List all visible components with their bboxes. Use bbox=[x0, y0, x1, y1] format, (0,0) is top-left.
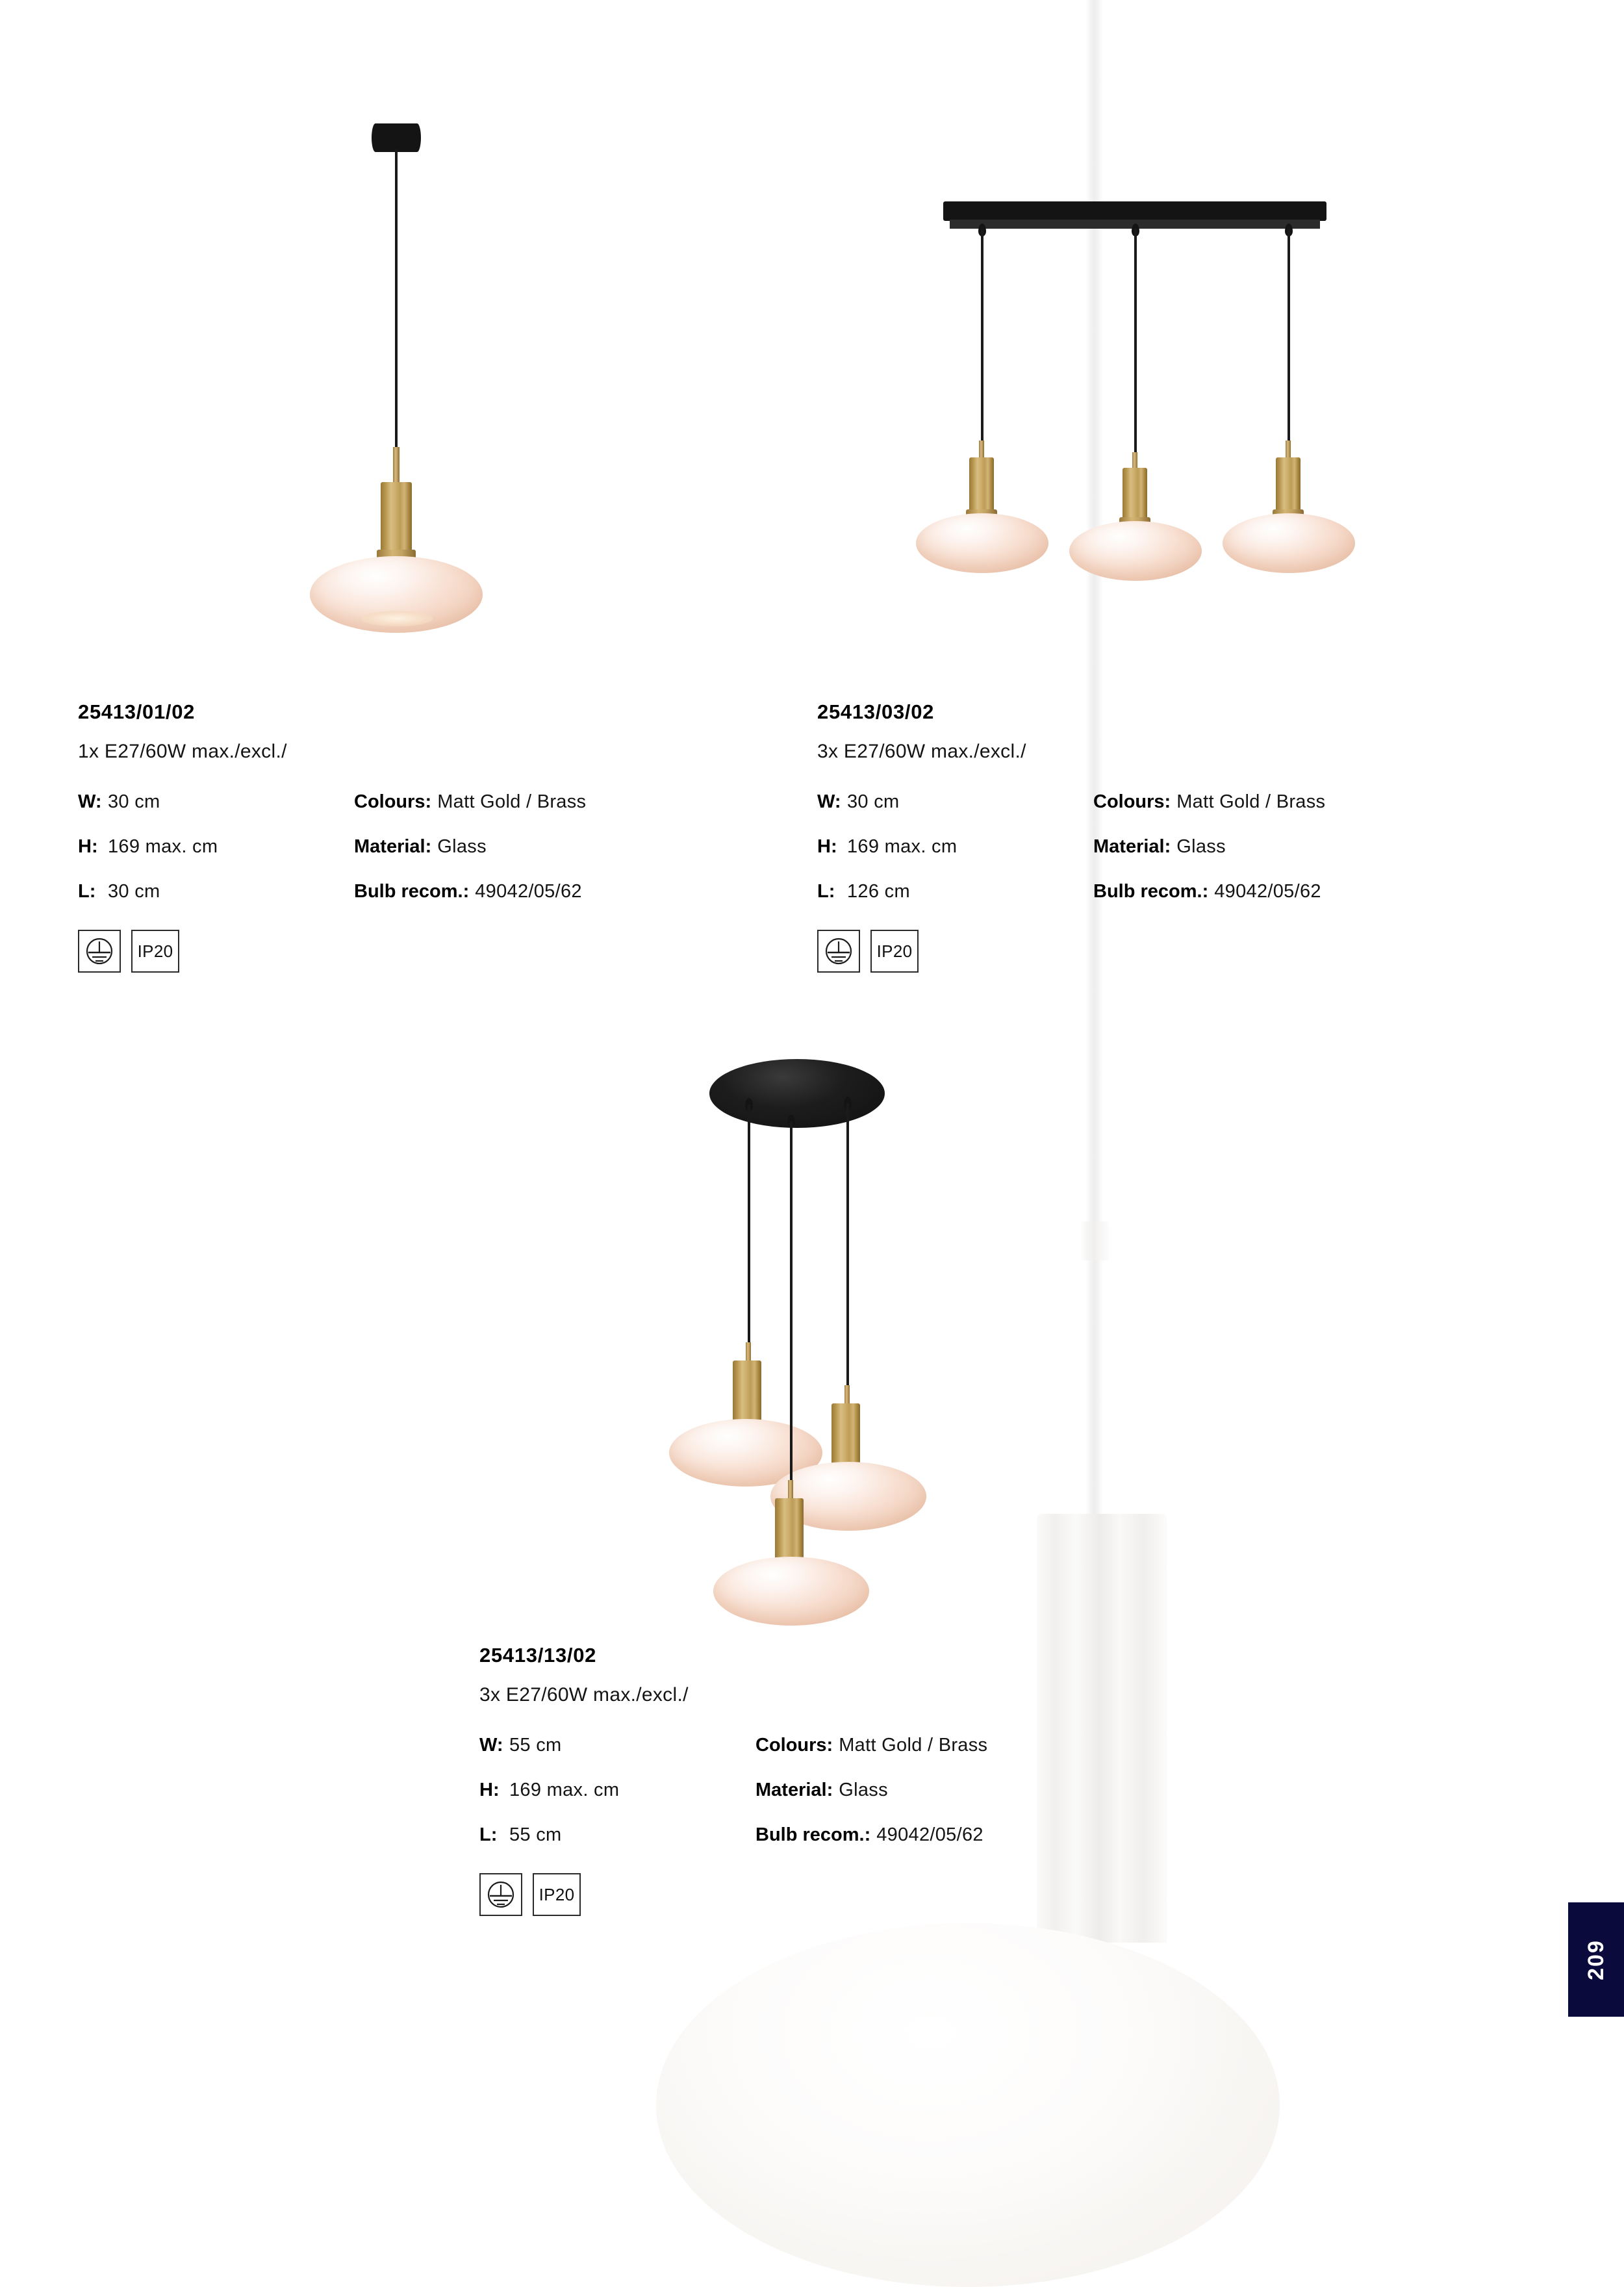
dimensions-column: W: 30 cm H: 169 max. cm L: 126 cm bbox=[817, 791, 1093, 902]
ip-rating-label: IP20 bbox=[877, 941, 913, 962]
background-floor-lamp-globe bbox=[656, 1923, 1280, 2287]
height-label: H: bbox=[479, 1780, 509, 1801]
pendant-cord bbox=[790, 1121, 793, 1483]
product-spec-block: 25413/13/02 3x E27/60W max./excl./ W: 55… bbox=[479, 1644, 987, 1916]
pendant-cord bbox=[395, 149, 398, 448]
page-number-tab: 209 bbox=[1568, 1902, 1624, 2017]
width-label: W: bbox=[479, 1735, 509, 1756]
info-column: Colours: Matt Gold / Brass Material: Gla… bbox=[354, 791, 586, 902]
colours-value: Matt Gold / Brass bbox=[1176, 791, 1325, 813]
ceiling-canopy bbox=[372, 123, 421, 152]
ip-rating-label: IP20 bbox=[138, 941, 173, 962]
material-value: Glass bbox=[437, 836, 487, 858]
colours-label: Colours: bbox=[354, 791, 431, 813]
glass-shade bbox=[916, 513, 1048, 573]
bulb-value: 49042/05/62 bbox=[1214, 881, 1321, 902]
pendant-cord bbox=[748, 1105, 750, 1345]
class-1-earth-icon bbox=[817, 930, 860, 973]
colours-value: Matt Gold / Brass bbox=[839, 1735, 987, 1756]
ip20-icon: IP20 bbox=[131, 930, 179, 973]
brass-socket bbox=[969, 457, 994, 512]
colours-label: Colours: bbox=[1093, 791, 1171, 813]
width-label: W: bbox=[817, 791, 847, 813]
product-code: 25413/01/02 bbox=[78, 700, 586, 724]
brass-socket bbox=[775, 1498, 804, 1561]
spec-row-length: L: 30 cm bbox=[78, 881, 354, 902]
dimensions-column: W: 55 cm H: 169 max. cm L: 55 cm bbox=[479, 1735, 755, 1846]
spec-row-width: W: 30 cm bbox=[817, 791, 1093, 813]
bar-canopy bbox=[943, 201, 1326, 221]
glass-shade bbox=[1223, 513, 1355, 573]
brass-socket bbox=[831, 1403, 860, 1466]
ip-rating-label: IP20 bbox=[539, 1885, 575, 1905]
colours-value: Matt Gold / Brass bbox=[437, 791, 586, 813]
background-floor-lamp-body bbox=[1037, 1514, 1167, 1943]
height-value: 169 max. cm bbox=[108, 836, 218, 858]
product-code: 25413/13/02 bbox=[479, 1644, 987, 1667]
width-label: W: bbox=[78, 791, 108, 813]
product-spec-block: 25413/01/02 1x E27/60W max./excl./ W: 30… bbox=[78, 700, 586, 973]
spec-row-length: L: 126 cm bbox=[817, 881, 1093, 902]
bulb-spec-line: 3x E27/60W max./excl./ bbox=[479, 1684, 987, 1706]
spec-row-width: W: 30 cm bbox=[78, 791, 354, 813]
height-label: H: bbox=[78, 836, 108, 858]
spec-row-bulb: Bulb recom.: 49042/05/62 bbox=[755, 1824, 987, 1846]
spec-row-bulb: Bulb recom.: 49042/05/62 bbox=[1093, 881, 1325, 902]
background-floor-lamp-collar bbox=[1081, 1221, 1110, 1260]
dimensions-column: W: 30 cm H: 169 max. cm L: 30 cm bbox=[78, 791, 354, 902]
spec-row-material: Material: Glass bbox=[354, 836, 586, 858]
bulb-label: Bulb recom.: bbox=[1093, 881, 1208, 902]
spec-row-height: H: 169 max. cm bbox=[479, 1780, 755, 1801]
brass-socket bbox=[1276, 457, 1300, 512]
spec-row-colours: Colours: Matt Gold / Brass bbox=[1093, 791, 1325, 813]
page-number: 209 bbox=[1583, 1939, 1608, 1980]
brass-socket bbox=[1123, 468, 1147, 520]
info-column: Colours: Matt Gold / Brass Material: Gla… bbox=[755, 1735, 987, 1846]
product-spec-block: 25413/03/02 3x E27/60W max./excl./ W: 30… bbox=[817, 700, 1325, 973]
length-value: 55 cm bbox=[509, 1824, 561, 1846]
bulb-value: 49042/05/62 bbox=[876, 1824, 983, 1846]
spec-row-material: Material: Glass bbox=[1093, 836, 1325, 858]
round-canopy bbox=[709, 1059, 885, 1128]
brass-socket bbox=[381, 482, 412, 552]
spec-row-length: L: 55 cm bbox=[479, 1824, 755, 1846]
height-label: H: bbox=[817, 836, 847, 858]
class-1-earth-icon bbox=[479, 1873, 522, 1916]
spec-row-height: H: 169 max. cm bbox=[817, 836, 1093, 858]
length-label: L: bbox=[817, 881, 847, 902]
pendant-cord bbox=[846, 1103, 849, 1388]
material-label: Material: bbox=[755, 1780, 833, 1801]
pendant-cord bbox=[981, 229, 983, 443]
bulb-label: Bulb recom.: bbox=[354, 881, 469, 902]
spec-row-colours: Colours: Matt Gold / Brass bbox=[354, 791, 586, 813]
length-value: 30 cm bbox=[108, 881, 160, 902]
height-value: 169 max. cm bbox=[847, 836, 957, 858]
material-label: Material: bbox=[1093, 836, 1171, 858]
pendant-cord bbox=[1288, 229, 1290, 443]
bulb-value: 49042/05/62 bbox=[475, 881, 582, 902]
material-value: Glass bbox=[839, 1780, 888, 1801]
length-label: L: bbox=[78, 881, 108, 902]
colours-label: Colours: bbox=[755, 1735, 833, 1756]
class-1-earth-icon bbox=[78, 930, 121, 973]
brass-socket bbox=[733, 1361, 761, 1423]
info-column: Colours: Matt Gold / Brass Material: Gla… bbox=[1093, 791, 1325, 902]
spec-row-colours: Colours: Matt Gold / Brass bbox=[755, 1735, 987, 1756]
product-code: 25413/03/02 bbox=[817, 700, 1325, 724]
ip20-icon: IP20 bbox=[533, 1873, 581, 1916]
spec-row-bulb: Bulb recom.: 49042/05/62 bbox=[354, 881, 586, 902]
length-label: L: bbox=[479, 1824, 509, 1846]
spec-row-width: W: 55 cm bbox=[479, 1735, 755, 1756]
pendant-cord bbox=[1134, 229, 1137, 455]
material-label: Material: bbox=[354, 836, 431, 858]
width-value: 55 cm bbox=[509, 1735, 561, 1756]
glass-shade bbox=[713, 1557, 869, 1626]
spec-row-material: Material: Glass bbox=[755, 1780, 987, 1801]
height-value: 169 max. cm bbox=[509, 1780, 619, 1801]
brass-stem bbox=[393, 447, 400, 487]
length-value: 126 cm bbox=[847, 881, 910, 902]
ip20-icon: IP20 bbox=[870, 930, 919, 973]
width-value: 30 cm bbox=[847, 791, 899, 813]
certification-icons: IP20 bbox=[78, 930, 586, 973]
bulb-spec-line: 3x E27/60W max./excl./ bbox=[817, 741, 1325, 763]
spec-row-height: H: 169 max. cm bbox=[78, 836, 354, 858]
shade-light-glow bbox=[361, 611, 433, 626]
certification-icons: IP20 bbox=[817, 930, 1325, 973]
bulb-label: Bulb recom.: bbox=[755, 1824, 870, 1846]
material-value: Glass bbox=[1176, 836, 1226, 858]
bulb-spec-line: 1x E27/60W max./excl./ bbox=[78, 741, 586, 763]
width-value: 30 cm bbox=[108, 791, 160, 813]
glass-shade bbox=[1069, 521, 1202, 581]
certification-icons: IP20 bbox=[479, 1873, 987, 1916]
